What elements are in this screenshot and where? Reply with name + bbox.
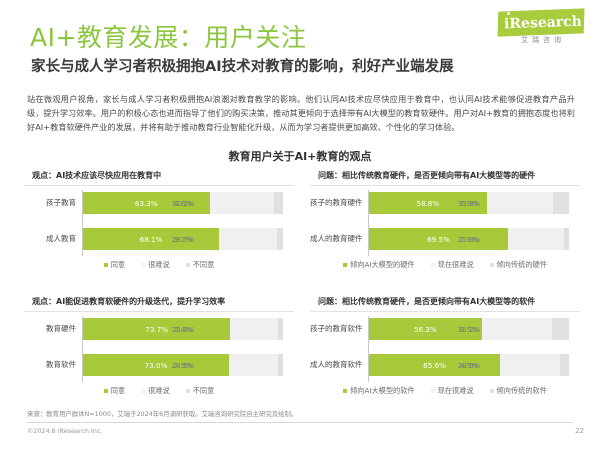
legend-swatch-icon bbox=[104, 389, 108, 393]
chart-value-label: 4.6% bbox=[174, 199, 192, 208]
chart-bar-row: 教育硬件73.7%23.9%2.4% bbox=[24, 318, 294, 340]
chart-bar-segment[interactable]: 33.3% bbox=[487, 192, 554, 214]
chart-value-label: 73.0% bbox=[145, 361, 168, 370]
chart-legend-item[interactable]: 倾向AI大模型的软件 bbox=[343, 386, 415, 396]
legend-label: 现在很难说 bbox=[438, 386, 474, 396]
chart-title-divider bbox=[24, 185, 294, 186]
chart-legend-item[interactable]: 不同意 bbox=[186, 260, 215, 270]
chart-value-label: 68.1% bbox=[140, 235, 163, 244]
chart-legend: 同意很难说不同意 bbox=[24, 386, 294, 396]
chart-bar-row: 成人教育68.1%28.7%3.2% bbox=[24, 228, 294, 250]
chart-value-label: 3.2% bbox=[174, 235, 192, 244]
chart-bar-segment[interactable]: 7.9% bbox=[553, 192, 569, 214]
legend-swatch-icon bbox=[343, 263, 347, 267]
legend-label: 现在很难说 bbox=[438, 260, 474, 270]
chart-bar-row: 孩子教育63.3%32.1%4.6% bbox=[24, 192, 294, 214]
legend-swatch-icon bbox=[490, 263, 494, 267]
chart-legend: 倾向AI大模型的软件现在很难说倾向传统的软件 bbox=[310, 386, 580, 396]
legend-label: 倾向AI大模型的软件 bbox=[350, 386, 415, 396]
legend-label: 不同意 bbox=[193, 260, 215, 270]
legend-label: 同意 bbox=[111, 260, 125, 270]
chart-category-label: 孩子的教育硬件 bbox=[310, 192, 362, 214]
chart-bar-segment[interactable]: 4.6% bbox=[274, 192, 283, 214]
legend-label: 很难说 bbox=[148, 260, 170, 270]
copyright-text: ©2024.8 iResearch Inc. bbox=[27, 427, 102, 435]
chart-value-label: 2.4% bbox=[174, 325, 192, 334]
chart-value-label: 73.7% bbox=[145, 325, 168, 334]
legend-swatch-icon bbox=[141, 263, 145, 267]
chart-category-label: 教育软件 bbox=[24, 354, 76, 376]
chart-legend: 倾向AI大模型的硬件现在很难说倾向传统的硬件 bbox=[310, 260, 580, 270]
chart-bar-segment[interactable]: 4.5% bbox=[560, 354, 569, 376]
chart-category-label: 教育硬件 bbox=[24, 318, 76, 340]
chart-bar-segment[interactable]: 27.9% bbox=[508, 228, 564, 250]
chart-stacked-bar[interactable]: 58.8%33.3%7.9% bbox=[369, 192, 569, 214]
chart-legend-item[interactable]: 同意 bbox=[104, 386, 125, 396]
legend-label: 倾向AI大模型的硬件 bbox=[350, 260, 415, 270]
chart-legend-item[interactable]: 倾向AI大模型的硬件 bbox=[343, 260, 415, 270]
chart-title: 观点：AI技术应该尽快应用在教育中 bbox=[32, 170, 161, 181]
chart-legend-item[interactable]: 很难说 bbox=[141, 260, 170, 270]
chart-legend-item[interactable]: 现在很难说 bbox=[431, 386, 474, 396]
chart-grid: 观点：AI技术应该尽快应用在教育中孩子教育63.3%32.1%4.6%成人教育6… bbox=[0, 168, 600, 403]
chart-bar-segment[interactable]: 2.5% bbox=[278, 354, 283, 376]
chart-value-label: 69.5% bbox=[427, 235, 450, 244]
chart-value-label: 7.9% bbox=[460, 199, 478, 208]
chart-value-label: 2.6% bbox=[460, 235, 478, 244]
chart-stacked-bar[interactable]: 68.1%28.7%3.2% bbox=[83, 228, 283, 250]
chart-category-label: 成人的教育硬件 bbox=[310, 228, 362, 250]
page-number: 22 bbox=[575, 427, 584, 435]
chart-bar-segment[interactable]: 29.9% bbox=[500, 354, 560, 376]
section-heading: 教育用户关于AI+教育的观点 bbox=[0, 148, 600, 164]
legend-label: 不同意 bbox=[193, 386, 215, 396]
chart-title: 问题：相比传统教育硬件，是否更倾向带有AI大模型等的软件 bbox=[318, 296, 535, 307]
chart-title-divider bbox=[310, 185, 580, 186]
footer-divider bbox=[27, 422, 573, 423]
chart-bar-segment[interactable]: 2.4% bbox=[278, 318, 283, 340]
iresearch-logo: iResearch 艾瑞咨询 bbox=[490, 10, 586, 50]
chart-card: 问题：相比传统教育硬件，是否更倾向带有AI大模型等的硬件孩子的教育硬件58.8%… bbox=[310, 168, 580, 280]
source-note: 来源：教育用户群体N=1000，艾瑞于2024年6月调研获取。艾瑞咨询研究院自主… bbox=[27, 409, 297, 418]
chart-value-label: 8.5% bbox=[460, 325, 478, 334]
chart-value-label: 56.3% bbox=[414, 325, 437, 334]
chart-stacked-bar[interactable]: 73.7%23.9%2.4% bbox=[83, 318, 283, 340]
chart-title: 问题：相比传统教育硬件，是否更倾向带有AI大模型等的硬件 bbox=[318, 170, 535, 181]
chart-bar-row: 成人的教育硬件69.5%27.9%2.6% bbox=[310, 228, 580, 250]
chart-card: 观点：AI技术应该尽快应用在教育中孩子教育63.3%32.1%4.6%成人教育6… bbox=[24, 168, 294, 280]
chart-bar-row: 成人的教育软件65.6%29.9%4.5% bbox=[310, 354, 580, 376]
chart-value-label: 4.5% bbox=[460, 361, 478, 370]
chart-legend-item[interactable]: 不同意 bbox=[186, 386, 215, 396]
chart-title: 观点：AI能促进教育软硬件的升级迭代，提升学习效率 bbox=[32, 296, 225, 307]
chart-bar-segment[interactable]: 24.5% bbox=[229, 354, 278, 376]
chart-stacked-bar[interactable]: 69.5%27.9%2.6% bbox=[369, 228, 569, 250]
chart-bar-segment[interactable]: 3.2% bbox=[277, 228, 283, 250]
chart-bar-segment[interactable]: 32.1% bbox=[210, 192, 274, 214]
chart-category-label: 成人的教育软件 bbox=[310, 354, 362, 376]
chart-plot-area: 教育硬件73.7%23.9%2.4%教育软件73.0%24.5%2.5% bbox=[24, 316, 294, 382]
legend-label: 倾向传统的软件 bbox=[497, 386, 547, 396]
chart-card: 观点：AI能促进教育软硬件的升级迭代，提升学习效率教育硬件73.7%23.9%2… bbox=[24, 294, 294, 406]
chart-stacked-bar[interactable]: 65.6%29.9%4.5% bbox=[369, 354, 569, 376]
legend-swatch-icon bbox=[141, 389, 145, 393]
legend-swatch-icon bbox=[431, 263, 435, 267]
chart-legend-item[interactable]: 同意 bbox=[104, 260, 125, 270]
slide-footer: 来源：教育用户群体N=1000，艾瑞于2024年6月调研获取。艾瑞咨询研究院自主… bbox=[0, 403, 600, 449]
legend-swatch-icon bbox=[343, 389, 347, 393]
logo-chinese-name: 艾瑞咨询 bbox=[500, 35, 586, 45]
chart-title-divider bbox=[24, 311, 294, 312]
chart-plot-area: 孩子教育63.3%32.1%4.6%成人教育68.1%28.7%3.2% bbox=[24, 190, 294, 256]
chart-bar-segment[interactable]: 73.0% bbox=[83, 354, 229, 376]
slide-header: AI+教育发展：用户关注 家长与成人学习者积极拥抱AI技术对教育的影响，利好产业… bbox=[0, 0, 600, 88]
chart-category-label: 孩子教育 bbox=[24, 192, 76, 214]
legend-swatch-icon bbox=[186, 263, 190, 267]
chart-bar-segment[interactable]: 69.5% bbox=[369, 228, 508, 250]
chart-plot-area: 孩子的教育软件56.3%35.2%8.5%成人的教育软件65.6%29.9%4.… bbox=[310, 316, 580, 382]
legend-swatch-icon bbox=[104, 263, 108, 267]
logo-wordmark: iResearch bbox=[500, 12, 587, 37]
chart-bar-segment[interactable]: 2.6% bbox=[564, 228, 569, 250]
legend-label: 很难说 bbox=[148, 386, 170, 396]
chart-bar-row: 教育软件73.0%24.5%2.5% bbox=[24, 354, 294, 376]
chart-legend-item[interactable]: 现在很难说 bbox=[431, 260, 474, 270]
chart-stacked-bar[interactable]: 63.3%32.1%4.6% bbox=[83, 192, 283, 214]
chart-bar-row: 孩子的教育软件56.3%35.2%8.5% bbox=[310, 318, 580, 340]
legend-swatch-icon bbox=[490, 389, 494, 393]
chart-value-label: 63.3% bbox=[135, 199, 158, 208]
chart-legend: 同意很难说不同意 bbox=[24, 260, 294, 270]
chart-bar-segment[interactable]: 73.7% bbox=[83, 318, 230, 340]
chart-bar-row: 孩子的教育硬件58.8%33.3%7.9% bbox=[310, 192, 580, 214]
chart-value-label: 65.6% bbox=[423, 361, 446, 370]
legend-swatch-icon bbox=[431, 389, 435, 393]
chart-value-label: 2.5% bbox=[174, 361, 192, 370]
body-paragraph: 站在微观用户视角，家长与成人学习者积极拥抱AI浪潮对教育教学的影响。他们认同AI… bbox=[27, 92, 575, 135]
chart-bar-segment[interactable]: 23.9% bbox=[230, 318, 278, 340]
chart-legend-item[interactable]: 很难说 bbox=[141, 386, 170, 396]
page-subtitle: 家长与成人学习者积极拥抱AI技术对教育的影响，利好产业端发展 bbox=[31, 55, 454, 76]
chart-card: 问题：相比传统教育硬件，是否更倾向带有AI大模型等的软件孩子的教育软件56.3%… bbox=[310, 294, 580, 406]
chart-title-divider bbox=[310, 311, 580, 312]
chart-bar-segment[interactable]: 68.1% bbox=[83, 228, 219, 250]
chart-stacked-bar[interactable]: 73.0%24.5%2.5% bbox=[83, 354, 283, 376]
chart-value-label: 58.8% bbox=[416, 199, 439, 208]
chart-legend-item[interactable]: 倾向传统的硬件 bbox=[490, 260, 547, 270]
legend-label: 同意 bbox=[111, 386, 125, 396]
chart-legend-item[interactable]: 倾向传统的软件 bbox=[490, 386, 547, 396]
logo-dot-icon bbox=[507, 12, 510, 15]
chart-plot-area: 孩子的教育硬件58.8%33.3%7.9%成人的教育硬件69.5%27.9%2.… bbox=[310, 190, 580, 256]
legend-label: 倾向传统的硬件 bbox=[497, 260, 547, 270]
chart-bar-segment[interactable]: 8.5% bbox=[552, 318, 569, 340]
chart-stacked-bar[interactable]: 56.3%35.2%8.5% bbox=[369, 318, 569, 340]
page-title: AI+教育发展：用户关注 bbox=[30, 18, 306, 54]
chart-bar-segment[interactable]: 28.7% bbox=[219, 228, 276, 250]
chart-category-label: 成人教育 bbox=[24, 228, 76, 250]
legend-swatch-icon bbox=[186, 389, 190, 393]
chart-category-label: 孩子的教育软件 bbox=[310, 318, 362, 340]
chart-bar-segment[interactable]: 35.2% bbox=[482, 318, 552, 340]
